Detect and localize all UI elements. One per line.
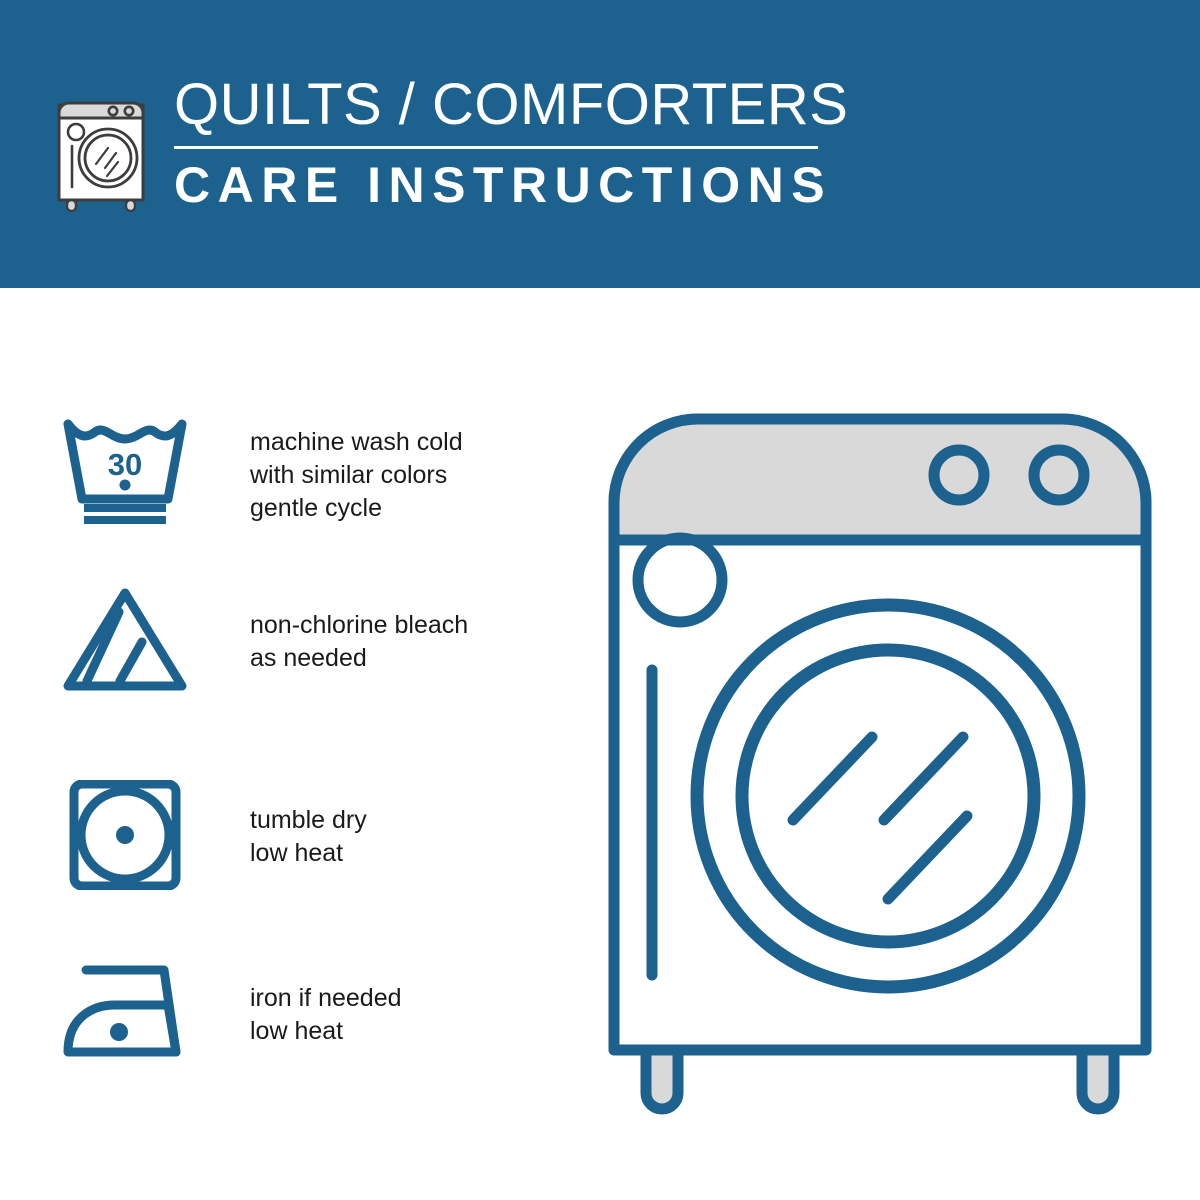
washing-machine-icon xyxy=(50,80,152,212)
page-title: QUILTS / COMFORTERS xyxy=(174,72,848,138)
svg-text:30: 30 xyxy=(108,447,142,482)
list-item: 30 machine wash cold with similar colors… xyxy=(60,415,463,525)
front-load-washing-machine-illustration xyxy=(600,405,1160,1120)
care-instructions-page: QUILTS / COMFORTERS CARE INSTRUCTIONS 30 xyxy=(0,0,1200,1200)
wash-basin-30-gentle-icon: 30 xyxy=(60,415,190,525)
non-chlorine-bleach-triangle-icon xyxy=(60,585,190,695)
tumble-dry-low-heat-icon xyxy=(60,780,190,890)
care-instruction-list: 30 machine wash cold with similar colors… xyxy=(0,288,560,1200)
header-title-group: QUILTS / COMFORTERS CARE INSTRUCTIONS xyxy=(174,72,848,214)
title-divider xyxy=(174,146,818,149)
list-item-label: machine wash cold with similar colors ge… xyxy=(250,426,463,525)
page-header: QUILTS / COMFORTERS CARE INSTRUCTIONS xyxy=(0,0,1200,288)
iron-low-heat-icon xyxy=(60,956,190,1066)
list-item: iron if needed low heat xyxy=(60,956,402,1066)
list-item-label: tumble dry low heat xyxy=(250,804,367,870)
header-content: QUILTS / COMFORTERS CARE INSTRUCTIONS xyxy=(50,72,848,214)
list-item: tumble dry low heat xyxy=(60,780,367,890)
list-item-label: non-chlorine bleach as needed xyxy=(250,609,468,675)
list-item: non-chlorine bleach as needed xyxy=(60,585,468,695)
list-item-label: iron if needed low heat xyxy=(250,982,402,1048)
page-subtitle: CARE INSTRUCTIONS xyxy=(174,156,848,214)
